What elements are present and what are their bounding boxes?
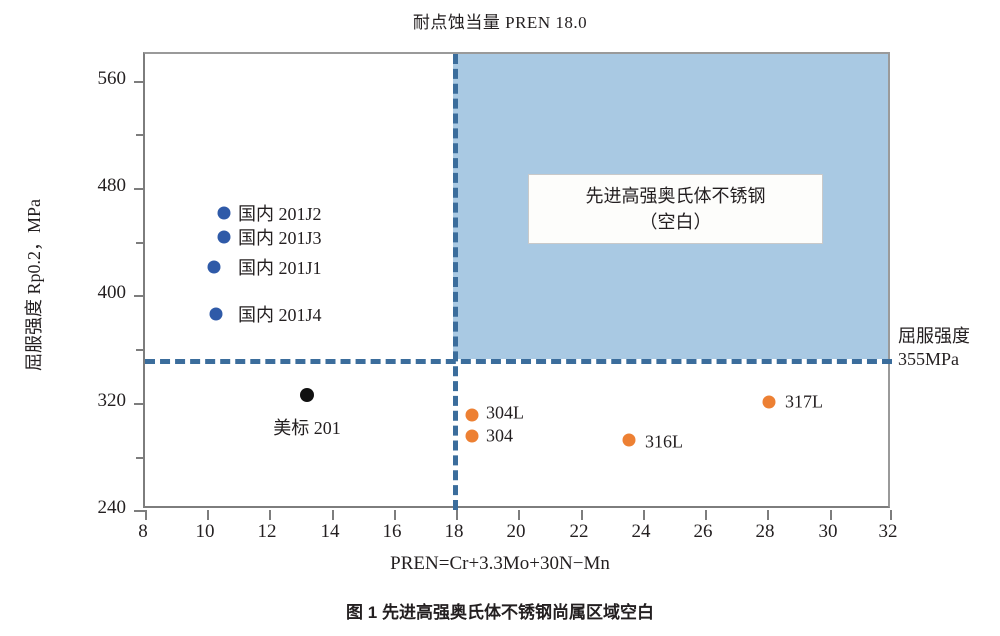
data-label-american-201: 美标 201: [273, 414, 341, 440]
data-point-american-201: [300, 388, 314, 402]
plot-area: 先进高强奥氏体不锈钢 （空白） 国内 201J2 国内 201J: [143, 52, 890, 508]
figure-container: 耐点蚀当量 PREN 18.0 先进高强奥氏体不锈钢 （空白）: [0, 0, 1000, 636]
figure-caption: 图 1 先进高强奥氏体不锈钢尚属区域空白: [0, 598, 1000, 623]
ytick-label-560: 560: [78, 68, 126, 90]
ytick-minor-440: [136, 242, 145, 244]
yield-strength-annotation: 屈服强度 355MPa: [898, 325, 970, 372]
data-point-316L: [623, 434, 636, 447]
ytick-label-320: 320: [78, 390, 126, 412]
callout-advanced-steel: 先进高强奥氏体不锈钢 （空白）: [528, 174, 823, 244]
xtick-label-32: 32: [879, 521, 898, 543]
data-point-201J2: [218, 207, 231, 220]
xtick-22: [581, 510, 583, 520]
data-point-201J4: [210, 308, 223, 321]
xtick-20: [518, 510, 520, 520]
xtick-16: [394, 510, 396, 520]
pren-threshold-line: [453, 54, 458, 510]
data-point-201J3: [218, 231, 231, 244]
xtick-label-16: 16: [383, 521, 402, 543]
ytick-320: [134, 403, 145, 405]
xtick-12: [269, 510, 271, 520]
xtick-label-10: 10: [196, 521, 215, 543]
data-label-201J1: 国内 201J1: [238, 254, 322, 280]
ytick-240: [134, 510, 145, 512]
yield-threshold-line: [145, 359, 892, 364]
data-label-201J3: 国内 201J3: [238, 224, 322, 250]
xtick-label-14: 14: [321, 521, 340, 543]
data-label-304L: 304L: [486, 403, 524, 424]
xtick-32: [890, 510, 892, 520]
x-axis-label: PREN=Cr+3.3Mo+30N−Mn: [0, 553, 1000, 575]
yield-annotation-line-1: 屈服强度: [898, 325, 970, 348]
callout-line-2: （空白）: [543, 209, 808, 235]
xtick-label-28: 28: [756, 521, 775, 543]
data-point-317L: [763, 396, 776, 409]
ytick-label-240: 240: [78, 497, 126, 519]
data-point-304: [466, 430, 479, 443]
data-label-304: 304: [486, 426, 513, 447]
ytick-480: [134, 188, 145, 190]
ytick-minor-360: [136, 349, 145, 351]
xtick-label-24: 24: [632, 521, 651, 543]
ytick-label-480: 480: [78, 175, 126, 197]
callout-line-1: 先进高强奥氏体不锈钢: [543, 183, 808, 209]
xtick-26: [705, 510, 707, 520]
xtick-label-20: 20: [507, 521, 526, 543]
ytick-label-400: 400: [78, 282, 126, 304]
yield-annotation-line-2: 355MPa: [898, 348, 970, 371]
ytick-400: [134, 295, 145, 297]
xtick-18: [456, 510, 458, 520]
xtick-label-8: 8: [138, 521, 148, 543]
data-label-201J2: 国内 201J2: [238, 200, 322, 226]
ytick-560: [134, 81, 145, 83]
y-axis-label: 屈服强度 Rp0.2，MPa: [20, 160, 46, 410]
xtick-label-12: 12: [258, 521, 277, 543]
xtick-30: [830, 510, 832, 520]
chart-title: 耐点蚀当量 PREN 18.0: [0, 8, 1000, 33]
xtick-10: [207, 510, 209, 520]
xtick-although-28: [767, 510, 769, 520]
xtick-label-22: 22: [570, 521, 589, 543]
data-point-304L: [466, 409, 479, 422]
data-label-201J4: 国内 201J4: [238, 301, 322, 327]
xtick-label-30: 30: [819, 521, 838, 543]
ytick-minor-280: [136, 457, 145, 459]
data-label-316L: 316L: [645, 432, 683, 453]
xtick-8: [145, 510, 147, 520]
xtick-label-26: 26: [694, 521, 713, 543]
ytick-minor-520: [136, 134, 145, 136]
xtick-24: [643, 510, 645, 520]
data-point-201J1: [208, 261, 221, 274]
xtick-label-18: 18: [445, 521, 464, 543]
xtick-14: [332, 510, 334, 520]
data-label-317L: 317L: [785, 392, 823, 413]
